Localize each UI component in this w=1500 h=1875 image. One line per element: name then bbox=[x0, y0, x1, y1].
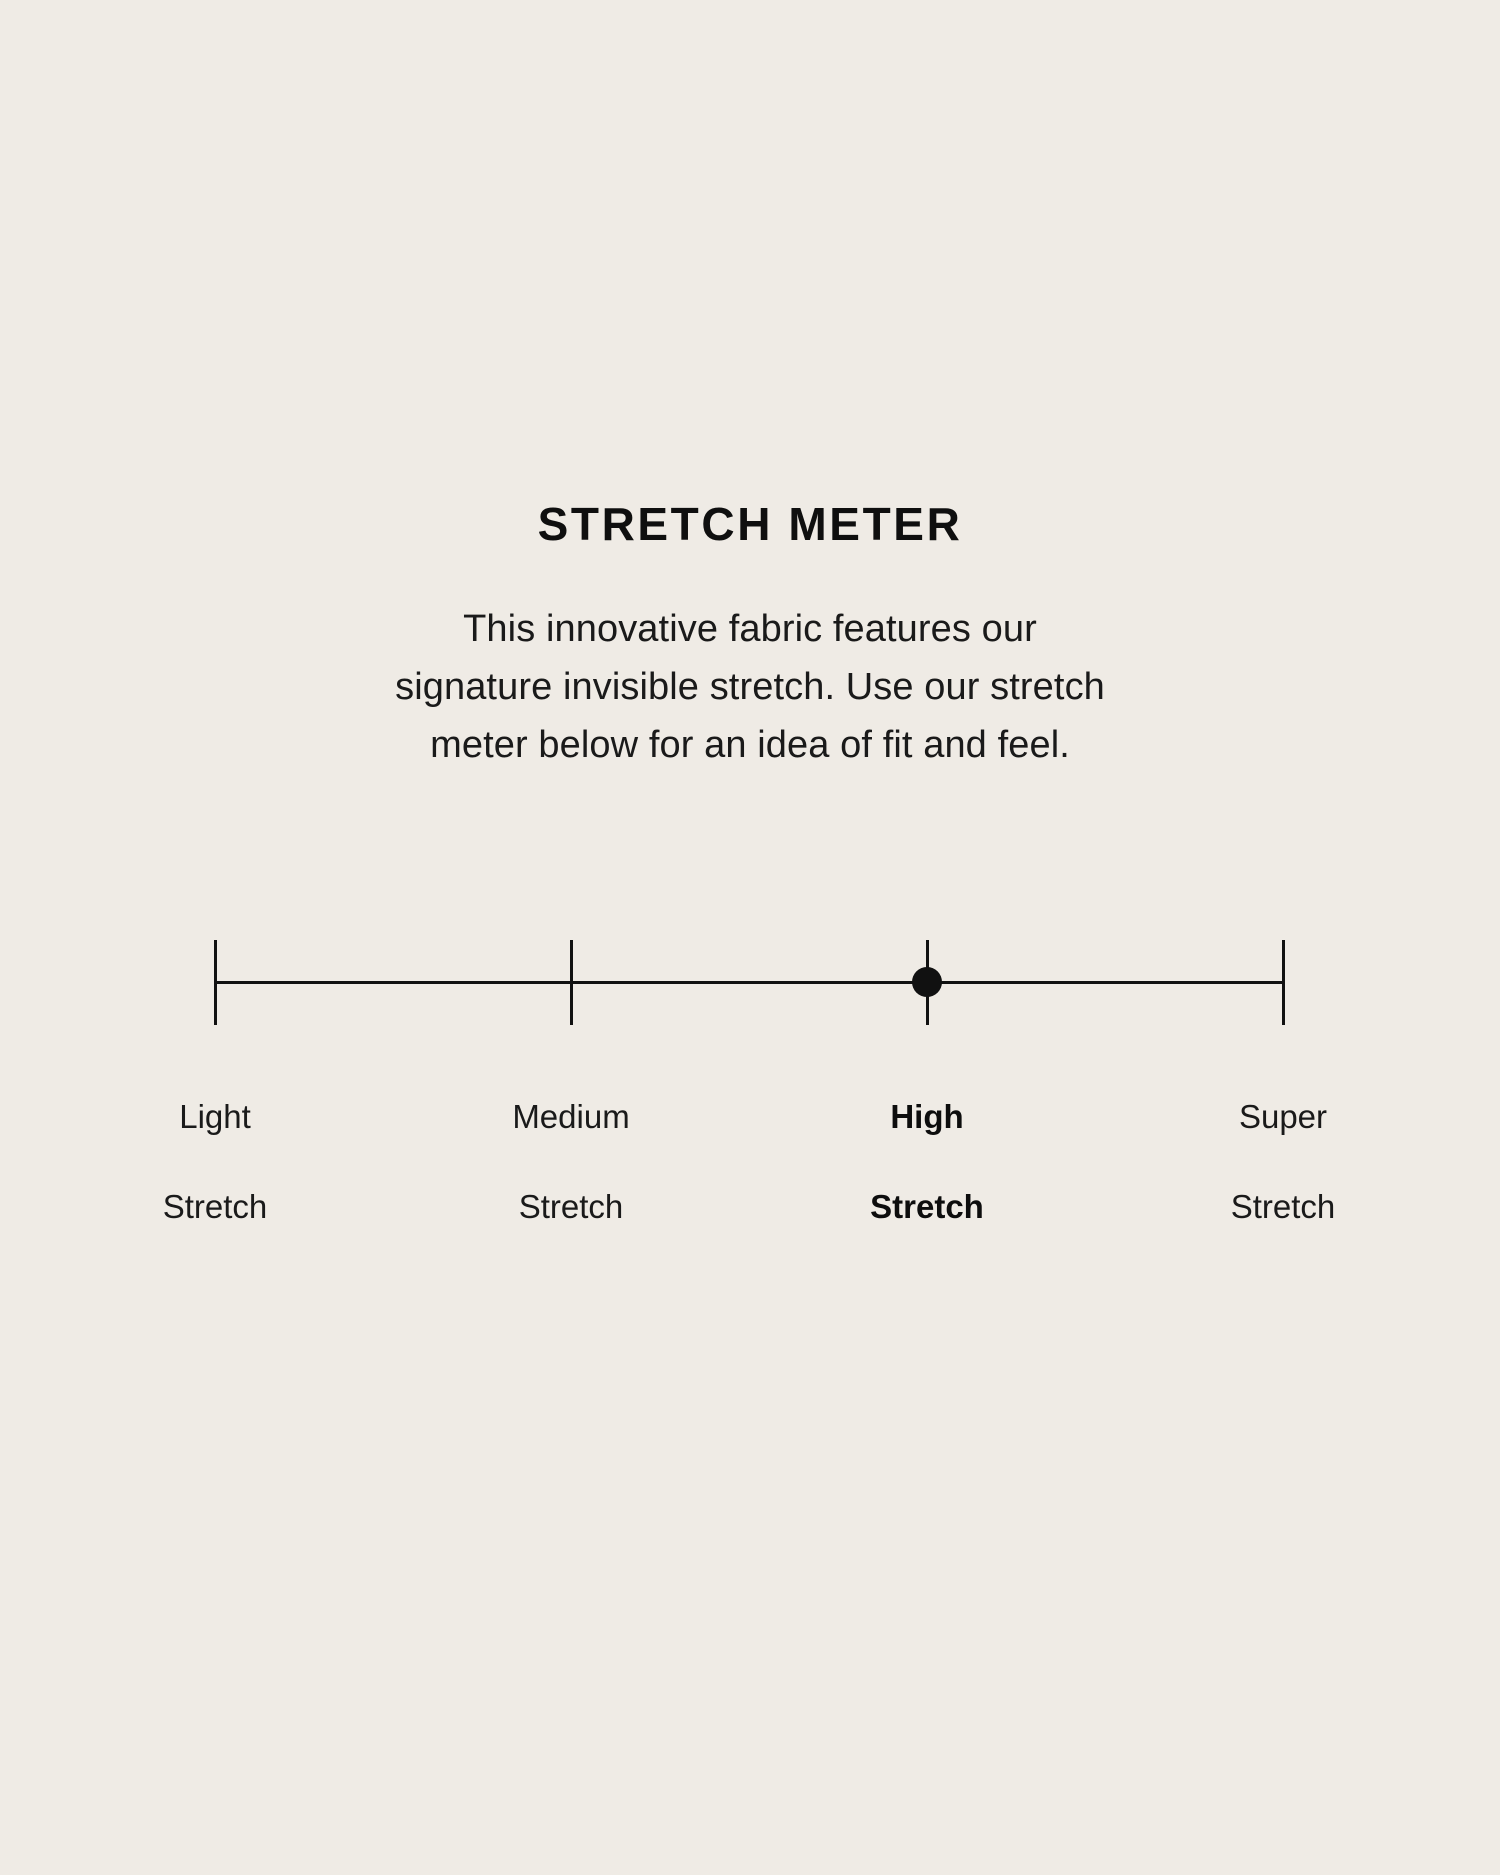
meter-label-line2: Stretch bbox=[1231, 1188, 1336, 1225]
page-title: STRETCH METER bbox=[0, 498, 1500, 551]
meter-label-super-stretch: Super Stretch bbox=[1133, 1049, 1433, 1229]
tick-mark-icon bbox=[570, 940, 573, 1025]
meter-label-line1: Super bbox=[1239, 1098, 1327, 1135]
meter-label-line1: Light bbox=[179, 1098, 251, 1135]
meter-label-line1: Medium bbox=[512, 1098, 629, 1135]
meter-label-line2: Stretch bbox=[870, 1188, 984, 1225]
description-text: This innovative fabric features our sign… bbox=[250, 600, 1250, 774]
meter-label-medium-stretch: Medium Stretch bbox=[421, 1049, 721, 1229]
meter-axis-line bbox=[215, 981, 1283, 984]
description-line-3: meter below for an idea of fit and feel. bbox=[250, 716, 1250, 774]
meter-label-line2: Stretch bbox=[163, 1188, 268, 1225]
tick-mark-icon bbox=[1282, 940, 1285, 1025]
meter-label-high-stretch: High Stretch bbox=[777, 1049, 1077, 1229]
description-line-1: This innovative fabric features our bbox=[250, 600, 1250, 658]
meter-label-light-stretch: Light Stretch bbox=[65, 1049, 365, 1229]
description-line-2: signature invisible stretch. Use our str… bbox=[250, 658, 1250, 716]
tick-mark-icon bbox=[214, 940, 217, 1025]
stretch-meter-scale[interactable]: Light Stretch Medium Stretch High Stretc… bbox=[215, 940, 1283, 1160]
filled-circle-marker-icon bbox=[912, 967, 942, 997]
meter-label-line2: Stretch bbox=[519, 1188, 624, 1225]
meter-label-line1: High bbox=[890, 1098, 963, 1135]
stretch-meter-panel: STRETCH METER This innovative fabric fea… bbox=[0, 0, 1500, 1875]
